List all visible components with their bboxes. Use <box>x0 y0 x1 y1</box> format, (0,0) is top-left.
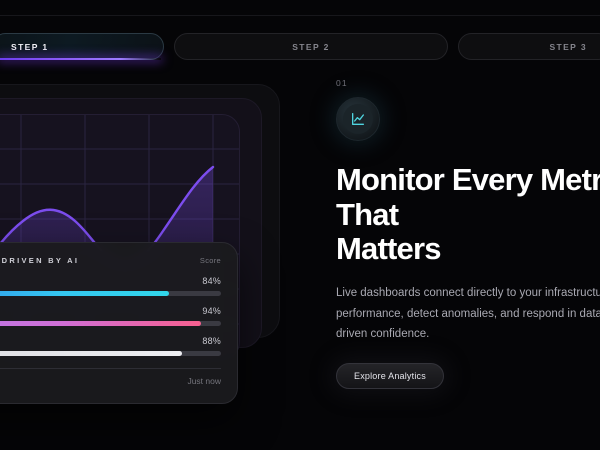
panel-divider <box>0 368 221 369</box>
step-tab-2-label: STEP 2 <box>292 42 330 52</box>
efficiency-panel-header: TEAM EFFICIENCY DRIVEN BY AI Score <box>0 256 221 265</box>
line-chart-icon <box>343 104 373 134</box>
metric-progress-track <box>0 321 221 326</box>
metric-progress-track <box>0 351 221 356</box>
metric-value: 94% <box>202 306 221 316</box>
top-divider <box>0 15 600 16</box>
explore-analytics-button[interactable]: Explore Analytics <box>336 363 444 389</box>
feature-description: Live dashboards connect directly to your… <box>336 283 600 344</box>
feature-content: 01 Monitor Every Metric That Matters Liv… <box>336 78 600 389</box>
metric-row: Sales automation 94% <box>0 306 221 326</box>
panel-timestamp: Just now <box>0 376 221 386</box>
metric-row: Marketing & ads 84% <box>0 276 221 296</box>
step-tabs: STEP 1 STEP 2 STEP 3 <box>0 33 600 60</box>
efficiency-panel-title: TEAM EFFICIENCY DRIVEN BY AI <box>0 256 79 265</box>
metric-value: 84% <box>202 276 221 286</box>
feature-icon-badge <box>336 97 380 141</box>
step-tab-1-label: STEP 1 <box>11 42 49 52</box>
efficiency-score-header: Score <box>200 256 221 265</box>
metric-progress-track <box>0 291 221 296</box>
metric-value: 88% <box>202 336 221 346</box>
metric-progress-fill <box>0 321 201 326</box>
step-tab-1[interactable]: STEP 1 <box>0 33 164 60</box>
step-number-label: 01 <box>336 78 600 88</box>
metric-row: Legal & Finance 88% <box>0 336 221 356</box>
metric-progress-fill <box>0 351 182 356</box>
efficiency-panel: TEAM EFFICIENCY DRIVEN BY AI Score Marke… <box>0 242 238 404</box>
metric-progress-fill <box>0 291 169 296</box>
step-tab-2[interactable]: STEP 2 <box>174 33 448 60</box>
step-tab-3[interactable]: STEP 3 <box>458 33 600 60</box>
step-tab-3-label: STEP 3 <box>549 42 587 52</box>
page-title: Monitor Every Metric That Matters <box>336 163 600 267</box>
